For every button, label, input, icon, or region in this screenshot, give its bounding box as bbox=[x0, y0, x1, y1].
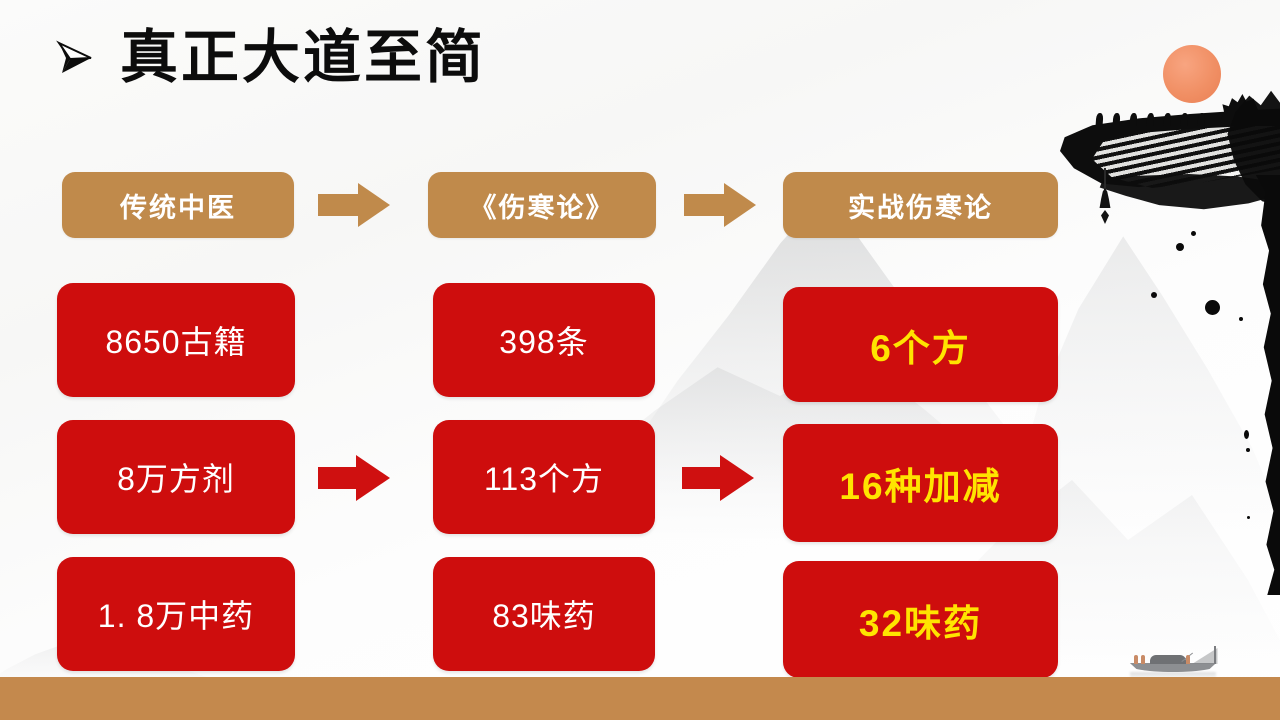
boat-fishing-pole bbox=[1181, 653, 1193, 662]
roof-ridge-figures bbox=[1096, 104, 1226, 126]
header-pill-label: 实战伤寒论 bbox=[848, 186, 993, 225]
data-box-label: 6个方 bbox=[870, 318, 971, 372]
arrow-head bbox=[356, 455, 390, 501]
data-box-practical-3[interactable]: 32味药 bbox=[783, 561, 1058, 678]
row-arrow-2-icon bbox=[682, 455, 754, 501]
page-title: 真正大道至简 bbox=[56, 28, 486, 86]
data-box-label: 113个方 bbox=[484, 454, 604, 500]
data-box-traditional-2[interactable]: 8万方剂 bbox=[57, 420, 295, 534]
chinese-roof-eave-icon bbox=[1052, 78, 1280, 208]
ink-droplet bbox=[1244, 430, 1249, 439]
boat-cabin bbox=[1150, 655, 1186, 664]
ink-splash-icon bbox=[1216, 86, 1280, 206]
arrow-head bbox=[724, 183, 756, 227]
boat-sail bbox=[1192, 648, 1218, 664]
hanging-bell-icon bbox=[1097, 188, 1113, 208]
data-box-practical-2[interactable]: 16种加减 bbox=[783, 424, 1058, 542]
ink-droplet bbox=[1205, 300, 1220, 315]
arrow-head bbox=[720, 455, 754, 501]
roof-tiles bbox=[1092, 126, 1280, 192]
roof-ridge bbox=[1060, 108, 1280, 194]
arrow-shaft bbox=[318, 194, 362, 216]
roof-dragon-head-icon bbox=[1220, 92, 1260, 126]
data-box-label: 16种加减 bbox=[839, 456, 1001, 510]
data-box-traditional-1[interactable]: 8650古籍 bbox=[57, 283, 295, 397]
ink-droplet bbox=[1239, 317, 1243, 321]
boat-hull bbox=[1124, 663, 1222, 672]
data-box-label: 1. 8万中药 bbox=[98, 591, 254, 637]
ink-droplet bbox=[1176, 243, 1184, 251]
arrow-shaft bbox=[682, 467, 724, 489]
ink-droplet bbox=[1191, 231, 1196, 236]
data-box-label: 83味药 bbox=[492, 591, 596, 637]
header-pill-label: 传统中医 bbox=[120, 186, 236, 225]
slide-canvas: 真正大道至简 传统中医 《伤寒论》 实战伤寒论 8650古籍 8万方剂 1. 8… bbox=[0, 0, 1280, 720]
bell-cord bbox=[1104, 168, 1106, 190]
data-box-label: 8650古籍 bbox=[105, 317, 246, 363]
data-box-practical-1[interactable]: 6个方 bbox=[783, 287, 1058, 402]
header-pill-traditional[interactable]: 传统中医 bbox=[62, 172, 294, 238]
arrow-shaft bbox=[684, 194, 728, 216]
footer-bar bbox=[0, 677, 1280, 720]
roof-underside bbox=[1096, 174, 1280, 216]
arrow-shaft bbox=[318, 467, 360, 489]
fishing-boat-icon bbox=[1124, 648, 1222, 674]
page-title-text: 真正大道至简 bbox=[120, 28, 486, 86]
header-pill-shanghanlun[interactable]: 《伤寒论》 bbox=[428, 172, 656, 238]
ink-splash-icon bbox=[1240, 175, 1280, 595]
boat-mast bbox=[1214, 646, 1216, 664]
data-box-label: 32味药 bbox=[859, 593, 982, 647]
row-arrow-1-icon bbox=[318, 455, 390, 501]
boat-figure bbox=[1134, 655, 1138, 664]
ink-droplet bbox=[1247, 516, 1250, 519]
data-box-label: 398条 bbox=[499, 317, 588, 363]
ink-droplet bbox=[1246, 448, 1250, 452]
data-box-shanghanlun-1[interactable]: 398条 bbox=[433, 283, 655, 397]
data-box-label: 8万方剂 bbox=[117, 454, 235, 500]
bell-tassel bbox=[1101, 210, 1109, 224]
data-box-shanghanlun-3[interactable]: 83味药 bbox=[433, 557, 655, 671]
data-box-traditional-3[interactable]: 1. 8万中药 bbox=[57, 557, 295, 671]
boat-figure bbox=[1186, 655, 1190, 664]
boat-figure bbox=[1141, 655, 1145, 664]
arrow-bullet-icon bbox=[56, 37, 94, 77]
data-box-shanghanlun-2[interactable]: 113个方 bbox=[433, 420, 655, 534]
sun-icon bbox=[1163, 45, 1221, 103]
header-arrow-2-icon bbox=[684, 183, 756, 227]
header-pill-label: 《伤寒论》 bbox=[470, 186, 615, 225]
header-pill-practical[interactable]: 实战伤寒论 bbox=[783, 172, 1058, 238]
ink-droplet bbox=[1151, 292, 1157, 298]
arrow-head bbox=[358, 183, 390, 227]
header-arrow-1-icon bbox=[318, 183, 390, 227]
